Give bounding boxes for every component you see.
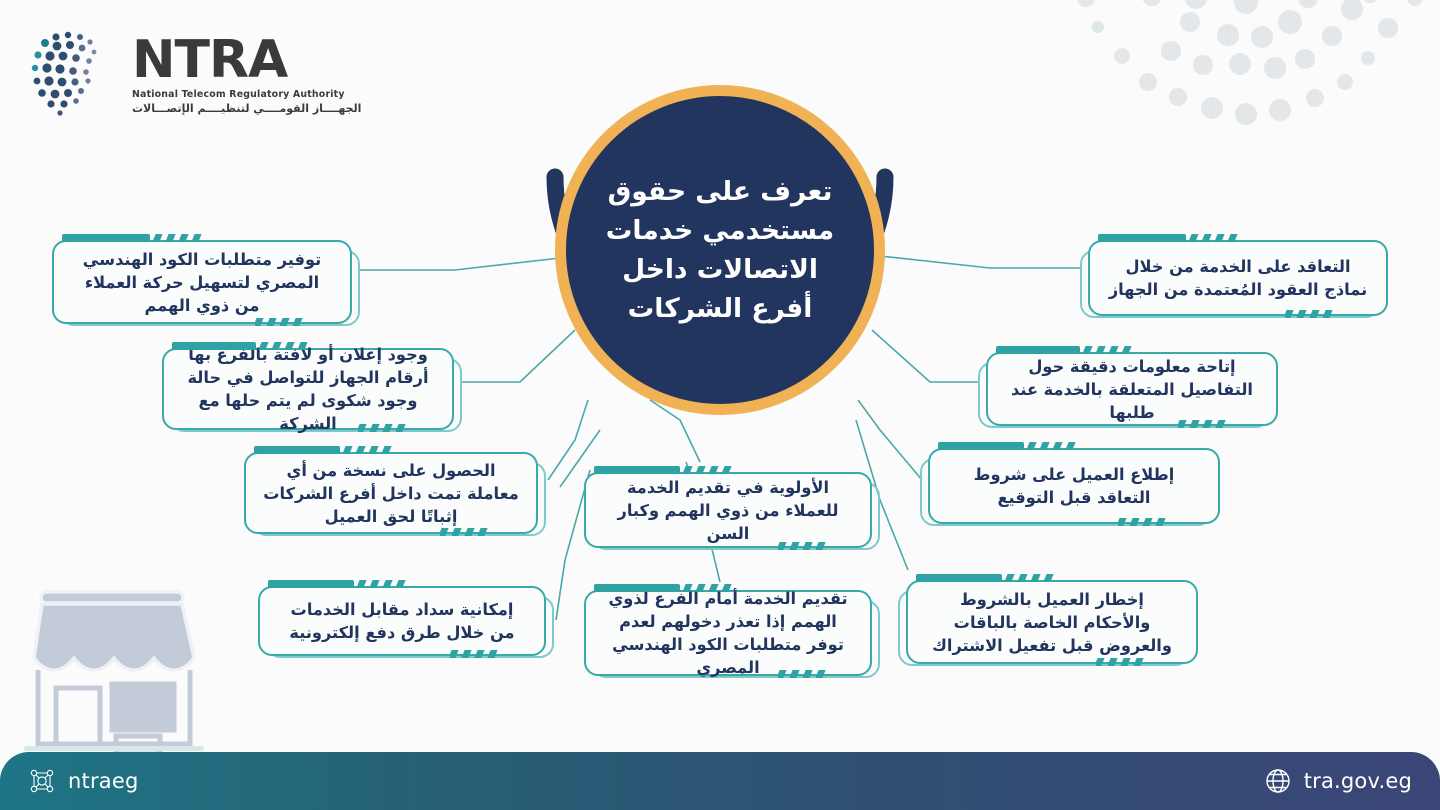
node-label: إطلاع العميل على شروط التعاقد قبل التوقي… [930, 457, 1218, 515]
website-item[interactable]: tra.gov.eg [1264, 767, 1412, 795]
node-label: إخطار العميل بالشروط والأحكام الخاصة بال… [908, 582, 1196, 663]
node-label: توفير متطلبات الكود الهندسي المصري لتسهي… [54, 242, 350, 323]
node-label: إمكانية سداد مقابل الخدمات من خلال طرق د… [260, 592, 544, 650]
infographic-canvas: NTRA National Telecom Regulatory Authori… [0, 0, 1440, 810]
node-contract-via-approved-forms[interactable]: التعاقد على الخدمة من خلال نماذج العقود … [1088, 240, 1388, 316]
node-notify-terms-of-bundles-and-offers[interactable]: إخطار العميل بالشروط والأحكام الخاصة بال… [906, 580, 1198, 664]
ntra-logo: NTRA National Telecom Regulatory Authori… [26, 22, 316, 127]
node-review-terms-before-signing[interactable]: إطلاع العميل على شروط التعاقد قبل التوقي… [928, 448, 1220, 524]
node-copy-of-any-transaction[interactable]: الحصول على نسخة من أي معاملة تمت داخل أف… [244, 452, 538, 534]
node-label: التعاقد على الخدمة من خلال نماذج العقود … [1090, 249, 1386, 307]
center-hub: تعرف على حقوق مستخدمي خدمات الاتصالات دا… [555, 85, 885, 415]
footer-bar: ntraeg tra.gov.eg [0, 752, 1440, 810]
social-handle-item[interactable]: ntraeg [28, 767, 139, 795]
node-priority-for-disabled-and-elderly[interactable]: الأولوية في تقديم الخدمة للعملاء من ذوي … [584, 472, 872, 548]
social-network-icon [28, 767, 56, 795]
node-service-in-front-of-branch[interactable]: تقديم الخدمة أمام الفرع لذوي الهمم إذا ت… [584, 590, 872, 676]
node-branch-sign-with-authority-numbers[interactable]: وجود إعلان أو لافتة بالفرع بها أرقام الج… [162, 348, 454, 430]
node-accurate-service-information[interactable]: إتاحة معلومات دقيقة حول التفاصيل المتعلق… [986, 352, 1278, 426]
page-title: تعرف على حقوق مستخدمي خدمات الاتصالات دا… [555, 85, 885, 415]
ntra-dots-logo-icon [26, 27, 122, 123]
node-label: تقديم الخدمة أمام الفرع لذوي الهمم إذا ت… [586, 581, 870, 685]
logo-subtitle-ar: الجهــــاز القومــــي لتنظيــــم الإتصــ… [132, 102, 361, 115]
globe-icon [1264, 767, 1292, 795]
node-label: الأولوية في تقديم الخدمة للعملاء من ذوي … [586, 470, 870, 551]
logo-wordmark: NTRA [132, 34, 361, 86]
dotted-wave-pattern-icon [1070, 0, 1440, 142]
logo-subtitle-en: National Telecom Regulatory Authority [132, 89, 361, 100]
node-engineering-code-requirements[interactable]: توفير متطلبات الكود الهندسي المصري لتسهي… [52, 240, 352, 324]
node-label: وجود إعلان أو لافتة بالفرع بها أرقام الج… [164, 337, 452, 441]
social-handle-label: ntraeg [68, 769, 139, 793]
node-electronic-payment-methods[interactable]: إمكانية سداد مقابل الخدمات من خلال طرق د… [258, 586, 546, 656]
storefront-shop-icon [16, 584, 216, 754]
website-label: tra.gov.eg [1304, 769, 1412, 793]
node-label: إتاحة معلومات دقيقة حول التفاصيل المتعلق… [988, 349, 1276, 430]
node-label: الحصول على نسخة من أي معاملة تمت داخل أف… [246, 453, 536, 534]
